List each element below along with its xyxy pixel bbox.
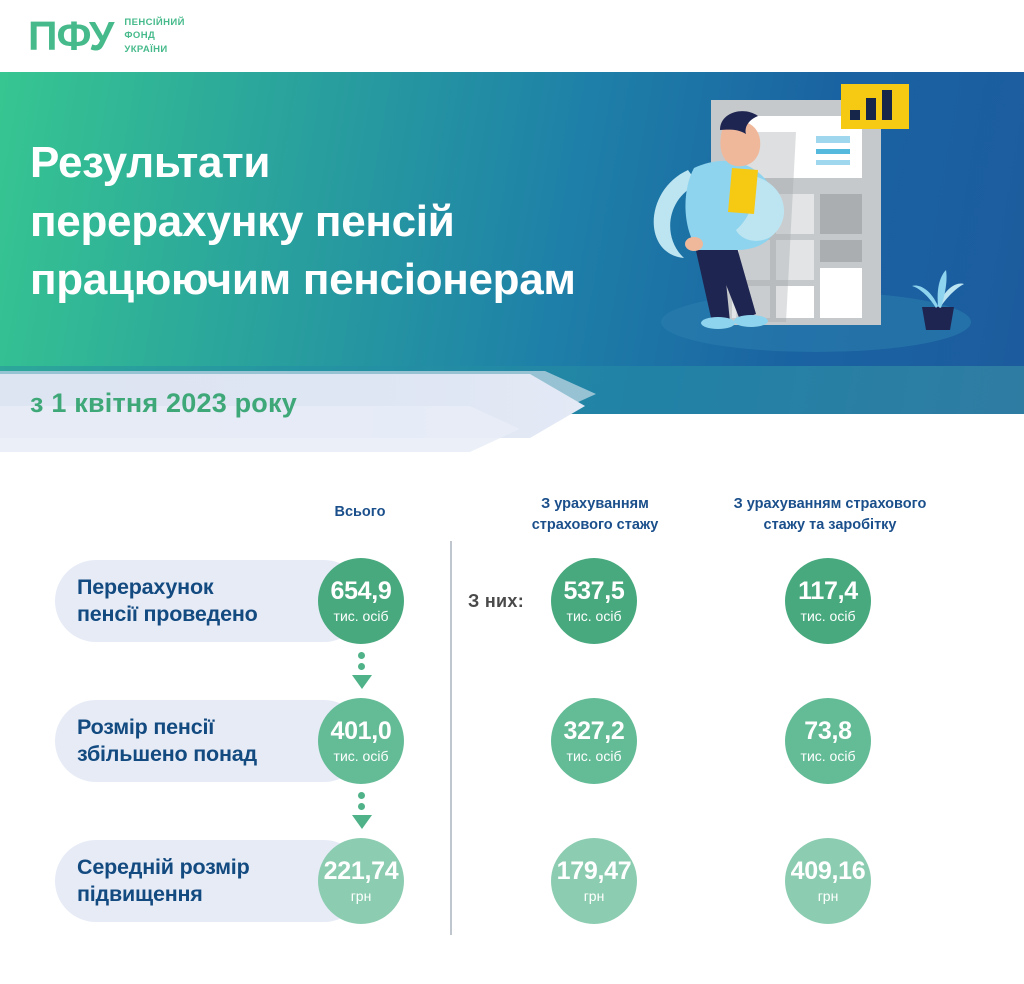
- hero-illustration: [636, 72, 996, 366]
- metric-value: 221,74: [324, 859, 399, 884]
- subtitle-band: з 1 квітня 2023 року: [0, 366, 1024, 466]
- metric-value: 179,47: [557, 859, 632, 884]
- metric-unit: тис. осіб: [567, 749, 622, 763]
- connector-dot: [358, 792, 365, 799]
- metric-circle-row1-record-earnings: 117,4 тис. осіб: [785, 558, 871, 644]
- metric-circle-row3-total: 221,74 грн: [318, 838, 404, 924]
- column-header-total: Всього: [300, 502, 420, 523]
- logo-line-1: Пенсійний: [124, 16, 184, 29]
- metric-circle-row3-record: 179,47 грн: [551, 838, 637, 924]
- metric-circle-row2-total: 401,0 тис. осіб: [318, 698, 404, 784]
- metric-value: 73,8: [804, 719, 851, 744]
- down-arrow-icon: [352, 675, 372, 689]
- arrow-connector-icon: [352, 652, 372, 694]
- metric-unit: грн: [351, 889, 372, 903]
- metric-unit: тис. осіб: [334, 749, 389, 763]
- metric-value: 401,0: [330, 719, 391, 744]
- connector-dot: [358, 652, 365, 659]
- logo-line-3: України: [124, 43, 184, 56]
- page-title: Результати перерахунку пенсій працюючим …: [30, 134, 576, 310]
- metric-value: 117,4: [798, 579, 858, 604]
- metric-unit: тис. осіб: [567, 609, 622, 623]
- vertical-divider: [450, 541, 452, 935]
- metric-unit: грн: [584, 889, 605, 903]
- row-label-text: Середній розмір підвищення: [55, 854, 250, 909]
- of-them-label: З них:: [468, 591, 524, 612]
- metric-circle-row2-record: 327,2 тис. осіб: [551, 698, 637, 784]
- connector-dot: [358, 803, 365, 810]
- logo-line-2: Фонд: [124, 29, 184, 42]
- metric-value: 537,5: [563, 579, 624, 604]
- logo-organization-name: Пенсійний Фонд України: [124, 16, 184, 56]
- row-label-text: Розмір пенсії збільшено понад: [55, 714, 257, 769]
- metric-unit: грн: [818, 889, 839, 903]
- metric-value: 409,16: [791, 859, 866, 884]
- metric-unit: тис. осіб: [801, 749, 856, 763]
- hero-banner: Результати перерахунку пенсій працюючим …: [0, 72, 1024, 366]
- metric-circle-row1-record: 537,5 тис. осіб: [551, 558, 637, 644]
- logo-bar: ПФУ Пенсійний Фонд України: [0, 0, 1024, 72]
- pfu-logo[interactable]: ПФУ Пенсійний Фонд України: [28, 16, 185, 57]
- column-header-insurance-record: З урахуванням страхового стажу: [480, 494, 710, 535]
- row-label-text: Перерахунок пенсії проведено: [55, 574, 258, 629]
- logo-mark-text: ПФУ: [28, 16, 113, 57]
- metric-value: 654,9: [330, 579, 391, 604]
- arrow-connector-icon: [352, 792, 372, 834]
- connector-dot: [358, 663, 365, 670]
- column-header-insurance-record-and-earnings: З урахуванням страхового стажу та заробі…: [705, 494, 955, 535]
- metric-circle-row1-total: 654,9 тис. осіб: [318, 558, 404, 644]
- subtitle-text: з 1 квітня 2023 року: [30, 388, 297, 419]
- metric-circle-row2-record-earnings: 73,8 тис. осіб: [785, 698, 871, 784]
- metric-unit: тис. осіб: [334, 609, 389, 623]
- metric-circle-row3-record-earnings: 409,16 грн: [785, 838, 871, 924]
- down-arrow-icon: [352, 815, 372, 829]
- metric-value: 327,2: [563, 719, 624, 744]
- metric-unit: тис. осіб: [801, 609, 856, 623]
